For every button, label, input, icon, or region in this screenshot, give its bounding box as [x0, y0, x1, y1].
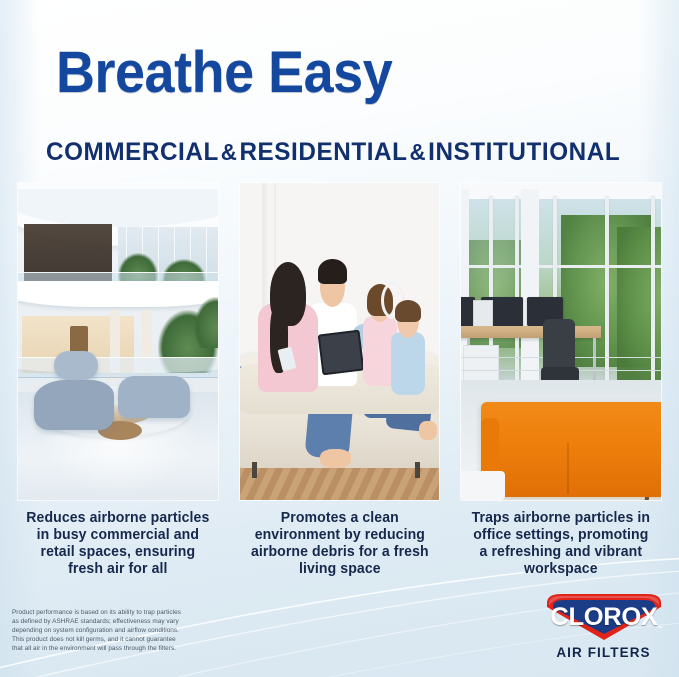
clorox-wordmark: CLOROX [541, 591, 665, 643]
subheading-segment-commercial: COMMERCIAL [46, 138, 219, 167]
subheading-separator-1: & [219, 139, 240, 166]
caption-residential: Promotes a clean environment by reducing… [243, 510, 437, 578]
disclaimer-line: depending on system configuration and ai… [12, 626, 237, 635]
disclaimer-line: that all air in the environment will pas… [12, 644, 237, 653]
logo-subtitle: AIR FILTERS [541, 645, 666, 660]
caption-line: airborne debris for a fresh [243, 544, 437, 561]
breathe-easy-poster: Breathe Easy COMMERCIAL & RESIDENTIAL & … [0, 0, 679, 677]
panel-residential-image [240, 183, 440, 500]
disclaimer-line: as defined by ASHRAE standards; effectiv… [12, 617, 237, 626]
caption-line: Traps airborne particles in [464, 510, 658, 527]
caption-institutional: Traps airborne particles in office setti… [464, 510, 658, 578]
trademark-symbol: ™ [657, 626, 663, 632]
caption-row: Reduces airborne particles in busy comme… [18, 510, 661, 578]
caption-line: Promotes a clean [243, 510, 437, 527]
caption-line: fresh air for all [21, 561, 215, 578]
caption-line: workspace [464, 561, 658, 578]
subheading-segment-residential: RESIDENTIAL [239, 138, 407, 167]
panel-commercial-image [18, 183, 218, 500]
caption-line: in busy commercial and [21, 527, 215, 544]
subheading-segment-institutional: INSTITUTIONAL [428, 138, 620, 167]
page-title: Breathe Easy [56, 44, 392, 102]
legal-disclaimer: Product performance is based on its abil… [12, 608, 237, 653]
caption-line: Reduces airborne particles [21, 510, 215, 527]
subheading: COMMERCIAL & RESIDENTIAL & INSTITUTIONAL [46, 138, 618, 167]
disclaimer-line: Product performance is based on its abil… [12, 608, 237, 617]
disclaimer-line: This product does not kill germs, and it… [12, 635, 237, 644]
caption-line: retail spaces, ensuring [21, 544, 215, 561]
subheading-separator-2: & [408, 139, 429, 166]
clorox-diamond-mark: CLOROX ™ [543, 591, 665, 643]
caption-line: a refreshing and vibrant [464, 544, 658, 561]
image-panel-row [18, 183, 661, 500]
clorox-air-filters-logo: CLOROX ™ AIR FILTERS [541, 591, 666, 667]
caption-line: office settings, promoting [464, 527, 658, 544]
caption-line: living space [243, 561, 437, 578]
caption-commercial: Reduces airborne particles in busy comme… [21, 510, 215, 578]
panel-institutional-image [461, 183, 661, 500]
caption-line: environment by reducing [243, 527, 437, 544]
